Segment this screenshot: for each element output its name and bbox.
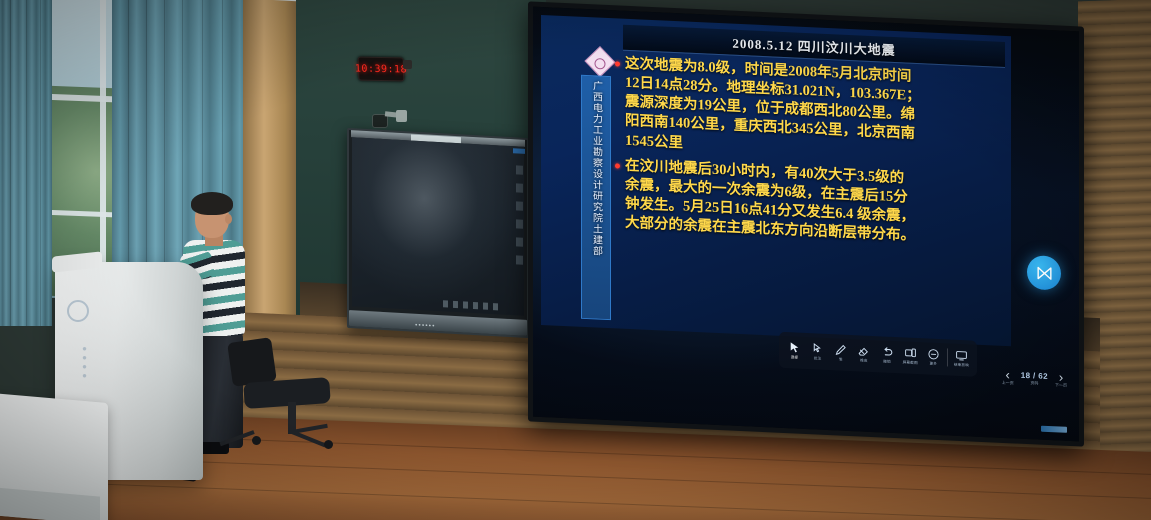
tool-label: 笔 bbox=[839, 357, 843, 362]
tool-label: 批注 bbox=[814, 356, 822, 361]
slide-bullet: 这次地震为8.0级，时间是2008年5月北京时间 12日14点28分。地理坐标3… bbox=[615, 54, 1005, 167]
tool-label: 橡皮 bbox=[860, 358, 868, 363]
floating-assistant-button[interactable] bbox=[1027, 255, 1061, 291]
slide-bullet: 在汶川地震后30小时内，有40次大于3.5级的 余震，最大的一次余震为6级，在主… bbox=[615, 156, 1005, 250]
tool-pen[interactable]: 笔 bbox=[829, 343, 852, 363]
interactive-whiteboard[interactable]: ●●●●●● bbox=[347, 128, 529, 338]
next-page-button[interactable]: › 下一页 bbox=[1055, 371, 1067, 389]
tool-label: 撤销 bbox=[883, 359, 891, 364]
slide-title: 2008.5.12 四川汶川大地震 bbox=[732, 33, 895, 59]
tool-label: 选择 bbox=[791, 355, 799, 360]
next-page-label: 下一页 bbox=[1055, 382, 1067, 389]
media-play-logo-icon bbox=[1035, 263, 1054, 283]
prev-page-button[interactable]: ‹ 上一页 bbox=[1002, 369, 1014, 387]
vertical-banner: 广西电力工业勘察设计研究院土建部 bbox=[581, 75, 611, 320]
chevron-right-icon: › bbox=[1059, 371, 1063, 382]
tool-pen-select[interactable]: 批注 bbox=[806, 342, 829, 362]
tool-eraser[interactable]: 橡皮 bbox=[852, 344, 875, 364]
toolbar-divider bbox=[947, 348, 948, 366]
tool-undo[interactable]: 撤销 bbox=[876, 345, 899, 365]
current-page: 18 bbox=[1021, 371, 1031, 380]
vertical-banner-text: 广西电力工业勘察设计研究院土建部 bbox=[589, 80, 604, 257]
lectern-text: ●●●● bbox=[59, 344, 89, 380]
tool-cursor[interactable]: 选择 bbox=[783, 340, 806, 360]
tool-screen-clip[interactable]: 屏幕截图 bbox=[899, 346, 922, 366]
page-separator: / bbox=[1033, 371, 1036, 380]
wall-camera bbox=[372, 108, 406, 130]
tool-end-presentation[interactable]: 结束放映 bbox=[950, 348, 973, 368]
total-pages: 62 bbox=[1038, 372, 1048, 381]
whiteboard-screen[interactable] bbox=[352, 137, 524, 316]
slide-body: 这次地震为8.0级，时间是2008年5月北京时间 12日14点28分。地理坐标3… bbox=[615, 54, 1005, 340]
clock-mount bbox=[403, 60, 412, 69]
presentation-display: 2008.5.12 四川汶川大地震 广西电力工业勘察设计研究院土建部 这次地震为… bbox=[528, 1, 1084, 446]
whiteboard-brand: ●●●●●● bbox=[415, 322, 436, 328]
tool-label: 结束放映 bbox=[954, 362, 969, 368]
tool-label: 更多 bbox=[930, 361, 938, 366]
diamond-watermark-icon bbox=[584, 46, 615, 77]
curtain-left bbox=[0, 0, 52, 326]
office-chair bbox=[230, 340, 338, 462]
page-indicator[interactable]: 18 / 62 页码 bbox=[1021, 371, 1048, 387]
wall-clock: 10:39:18 bbox=[358, 57, 405, 82]
display-screen[interactable]: 2008.5.12 四川汶川大地震 广西电力工业勘察设计研究院土建部 这次地震为… bbox=[533, 7, 1079, 442]
chevron-left-icon: ‹ bbox=[1006, 369, 1010, 380]
prev-page-label: 上一页 bbox=[1002, 380, 1014, 387]
tool-more[interactable]: 更多 bbox=[922, 347, 945, 367]
display-brand-chip bbox=[1041, 426, 1067, 433]
lectern-emblem-icon bbox=[67, 300, 89, 322]
slide: 2008.5.12 四川汶川大地震 广西电力工业勘察设计研究院土建部 这次地震为… bbox=[541, 15, 1011, 346]
clock-time: 10:39:18 bbox=[355, 63, 408, 75]
whiteboard-side-buttons[interactable] bbox=[516, 165, 523, 273]
classroom-scene: 10:39:18 ●●●●●● bbox=[0, 0, 1151, 520]
whiteboard-indicator bbox=[513, 148, 525, 154]
page-number-label: 页码 bbox=[1030, 380, 1038, 386]
tool-label: 屏幕截图 bbox=[903, 360, 918, 366]
slide-pager[interactable]: ‹ 上一页 18 / 62 页码 › 下一页 bbox=[1002, 369, 1067, 389]
